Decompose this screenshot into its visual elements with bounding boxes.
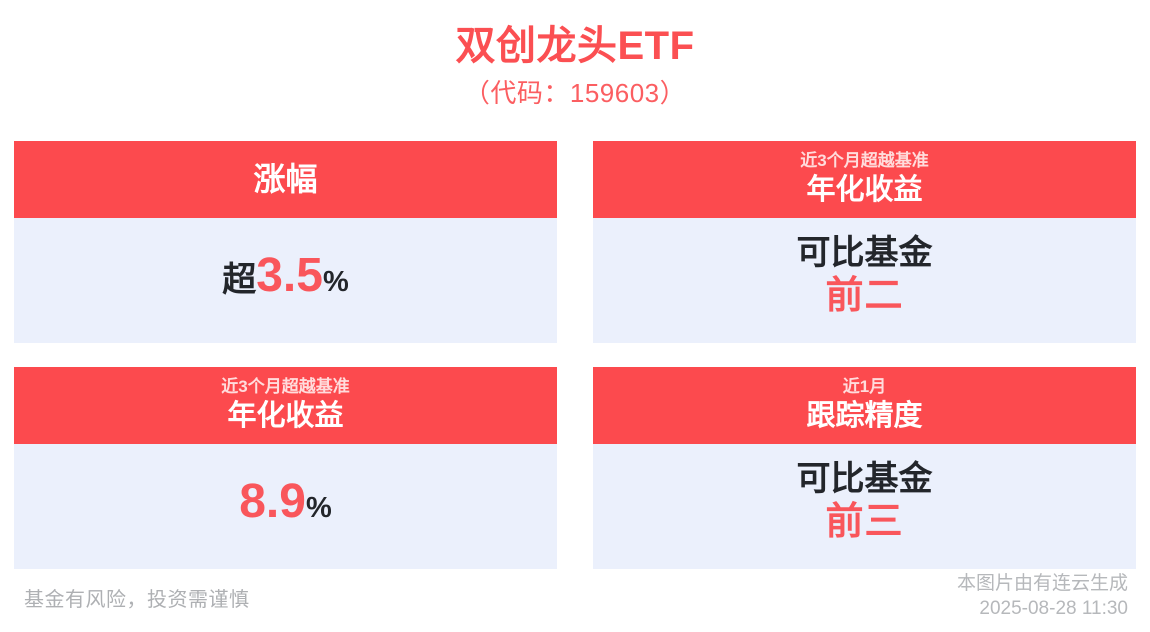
metric-card-header: 近1月 跟踪精度 [593, 367, 1136, 444]
metric-value-suffix: % [323, 267, 349, 299]
metric-title: 年化收益 [227, 399, 343, 434]
image-credit: 本图片由有连云生成 2025-08-28 11:30 [957, 572, 1128, 621]
metric-value-suffix: % [306, 493, 332, 525]
metric-subtitle: 近1月 [843, 376, 886, 399]
metric-card-excess-return-value: 近3个月超越基准 年化收益 8.9 % [14, 367, 557, 569]
risk-disclaimer: 基金有风险，投资需谨慎 [24, 583, 250, 612]
page-footer: 基金有风险，投资需谨慎 本图片由有连云生成 2025-08-28 11:30 [0, 570, 1150, 632]
credit-timestamp: 2025-08-28 11:30 [957, 597, 1128, 622]
metric-title: 年化收益 [806, 173, 922, 208]
metric-subtitle: 近3个月超越基准 [800, 150, 928, 173]
metric-title: 涨幅 [253, 160, 317, 199]
metric-card-header: 近3个月超越基准 年化收益 [14, 367, 557, 444]
metric-value-top: 可比基金 [797, 459, 933, 500]
metric-card-grid: 涨幅 超 3.5 % 近3个月超越基准 年化收益 可比基金 前二 近3个月超越基… [14, 141, 1136, 569]
metric-card-body: 可比基金 前二 [593, 218, 1136, 343]
metric-value-row: 超 3.5 % [222, 250, 349, 303]
metric-value-number: 3.5 [256, 250, 323, 303]
metric-card-gain: 涨幅 超 3.5 % [14, 141, 557, 343]
metric-value-row: 8.9 % [239, 476, 332, 529]
metric-card-body: 可比基金 前三 [593, 444, 1136, 569]
metric-card-tracking-accuracy: 近1月 跟踪精度 可比基金 前三 [593, 367, 1136, 569]
metric-value-prefix: 超 [222, 262, 256, 299]
metric-value-bottom: 前二 [825, 274, 903, 320]
metric-card-body: 8.9 % [14, 444, 557, 569]
metric-subtitle: 近3个月超越基准 [221, 376, 349, 399]
credit-source: 本图片由有连云生成 [957, 572, 1128, 597]
metric-card-body: 超 3.5 % [14, 218, 557, 343]
metric-value-number: 8.9 [239, 476, 306, 529]
metric-card-header: 涨幅 [14, 141, 557, 218]
page-title: 双创龙头ETF [0, 22, 1150, 71]
page-header: 双创龙头ETF （代码：159603） [0, 0, 1150, 109]
metric-card-header: 近3个月超越基准 年化收益 [593, 141, 1136, 218]
metric-value-bottom: 前三 [825, 500, 903, 546]
metric-title: 跟踪精度 [806, 399, 922, 434]
metric-card-excess-return-rank: 近3个月超越基准 年化收益 可比基金 前二 [593, 141, 1136, 343]
fund-code: （代码：159603） [0, 77, 1150, 110]
metric-value-top: 可比基金 [797, 233, 933, 274]
